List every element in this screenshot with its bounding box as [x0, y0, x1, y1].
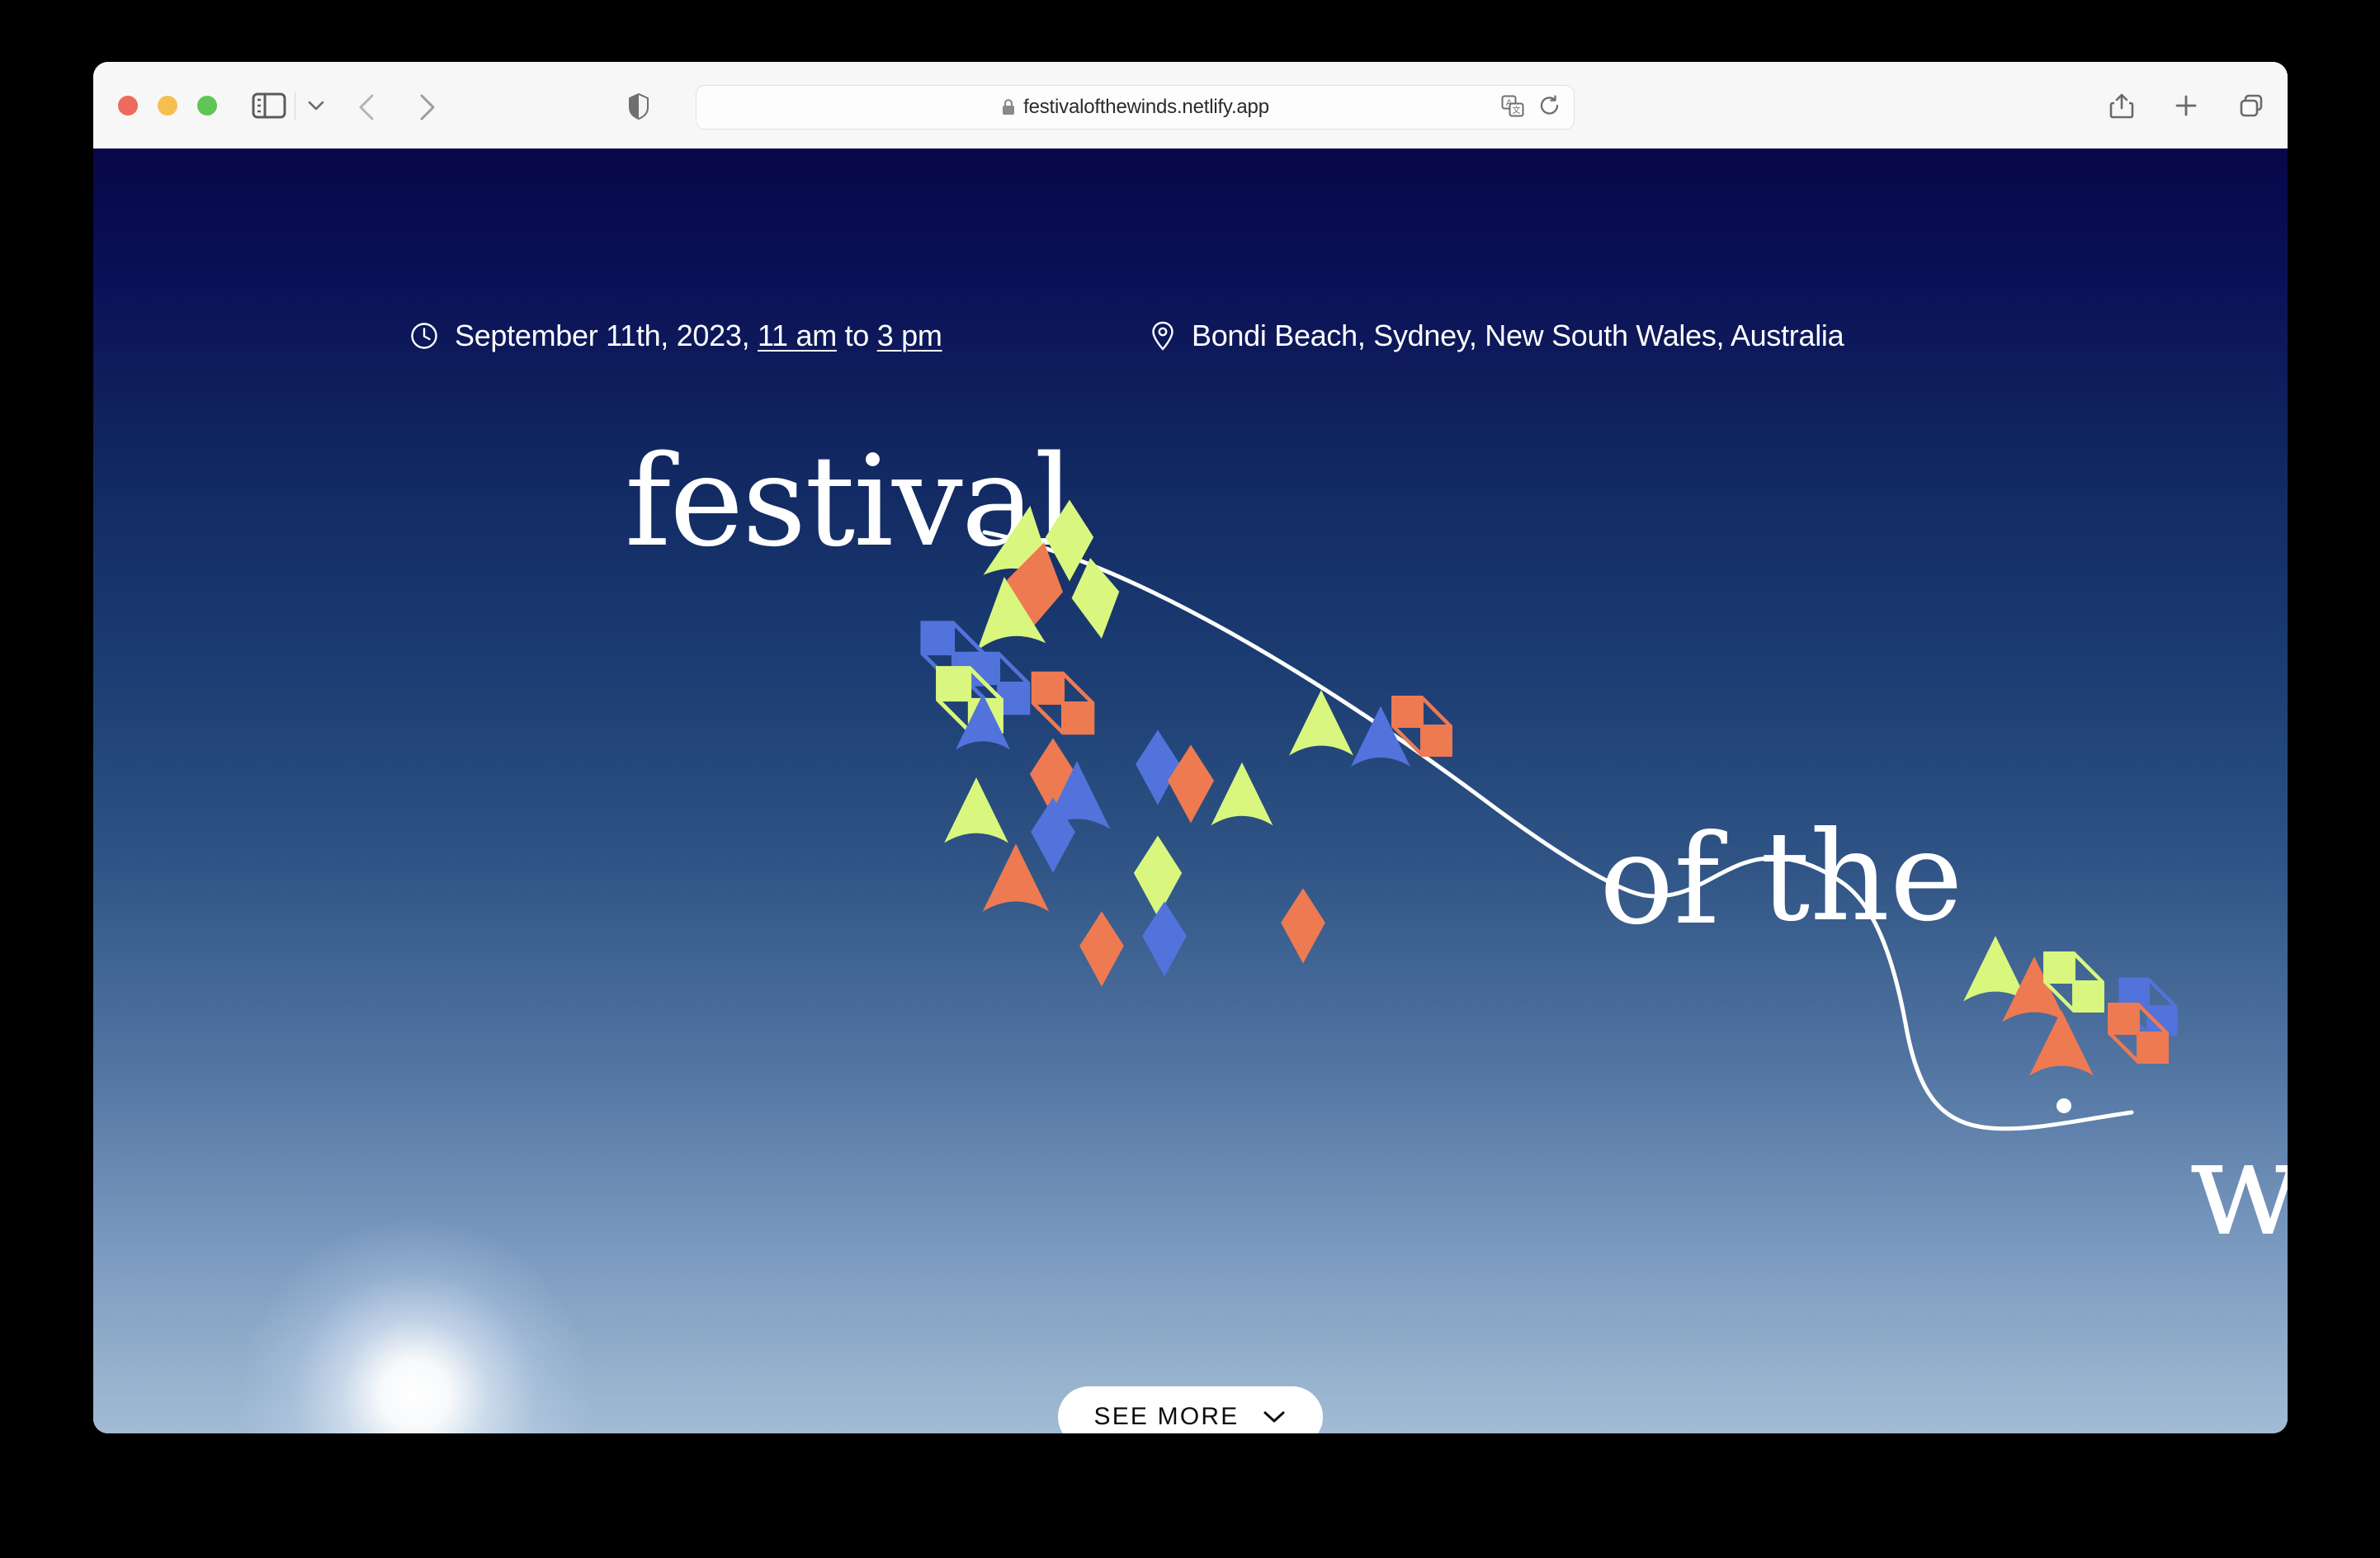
kite-diamond — [1079, 911, 1124, 986]
kite-box — [1393, 697, 1450, 754]
kite-diamond — [1030, 739, 1076, 817]
address-bar-content: festivalofthewinds.netlify.app — [1001, 96, 1269, 119]
see-more-button[interactable]: SEE MORE — [1058, 1386, 1324, 1433]
kite-delta — [1963, 936, 2028, 1001]
address-bar-actions: A 文 — [1501, 95, 1561, 122]
kite-delta — [970, 574, 1046, 651]
kite-box — [938, 668, 1002, 732]
clock-icon — [410, 322, 438, 350]
event-location: Bondi Beach, Sydney, New South Wales, Au… — [1150, 319, 1844, 353]
kite-box — [1033, 673, 1093, 733]
string-anchor-dot — [2057, 1098, 2071, 1113]
kite-diamond — [1066, 555, 1125, 642]
event-time-start: 11 am — [758, 319, 837, 352]
sun-glow — [242, 1221, 588, 1433]
tab-overview-icon[interactable] — [2238, 92, 2264, 123]
event-datetime: September 11th, 2023, 11 am to 3 pm — [410, 319, 942, 353]
event-info-row: September 11th, 2023, 11 am to 3 pm Bond… — [93, 319, 2288, 376]
new-tab-plus-icon[interactable] — [2174, 93, 2198, 122]
kite-diamond — [1168, 745, 1214, 824]
event-time-end: 3 pm — [877, 319, 942, 352]
map-pin-icon — [1150, 321, 1175, 351]
kite-delta — [2002, 956, 2066, 1022]
kite-box — [923, 623, 984, 684]
browser-toolbar: festivalofthewinds.netlify.app A 文 — [93, 62, 2288, 149]
zoom-window-button[interactable] — [197, 96, 217, 116]
event-date: September 11th, 2023, — [455, 319, 749, 352]
kite-diamond — [1142, 901, 1187, 976]
kite-box — [969, 654, 1028, 713]
toolbar-right-actions — [2109, 92, 2264, 124]
kite-diamond — [1281, 888, 1325, 963]
headline-word-of: of — [1599, 819, 1720, 942]
chevron-down-icon — [1262, 1409, 1287, 1425]
kite-diamond — [1134, 836, 1182, 918]
lock-icon — [1001, 98, 1016, 116]
headline-word-the: the — [1760, 815, 1963, 939]
reload-icon[interactable] — [1539, 95, 1561, 122]
close-window-button[interactable] — [118, 96, 138, 116]
kite-delta — [2029, 1010, 2094, 1075]
page-viewport: September 11th, 2023, 11 am to 3 pm Bond… — [93, 149, 2288, 1433]
kite-delta — [1044, 761, 1111, 829]
headline-word-festival: festival — [625, 439, 1073, 564]
screen: festivalofthewinds.netlify.app A 文 — [0, 0, 2380, 1558]
translate-icon[interactable]: A 文 — [1501, 95, 1524, 122]
kite-delta — [944, 777, 1008, 843]
back-button[interactable] — [356, 93, 379, 125]
kite-box — [2121, 980, 2176, 1035]
kite-delta — [956, 694, 1010, 750]
event-location-text: Bondi Beach, Sydney, New South Wales, Au… — [1192, 319, 1844, 353]
kite-delta — [1351, 706, 1410, 767]
sidebar-chevron-down-icon[interactable] — [306, 98, 326, 117]
address-bar[interactable]: festivalofthewinds.netlify.app A 文 — [696, 85, 1575, 130]
share-icon[interactable] — [2109, 92, 2134, 124]
kite-diamond — [1031, 797, 1075, 872]
see-more-label: SEE MORE — [1094, 1403, 1240, 1431]
window-traffic-lights[interactable] — [118, 96, 217, 116]
event-time-join: to — [845, 319, 869, 352]
privacy-shield-icon[interactable] — [628, 93, 649, 124]
sidebar-icon[interactable] — [252, 92, 286, 120]
kite-delta — [1211, 762, 1273, 825]
browser-window: festivalofthewinds.netlify.app A 文 — [93, 62, 2288, 1433]
kite-delta — [983, 843, 1050, 911]
forward-button[interactable] — [415, 93, 438, 125]
kite-box — [2045, 953, 2102, 1010]
toolbar-divider — [295, 92, 295, 120]
minimize-window-button[interactable] — [158, 96, 177, 116]
headline-word-winds: winds — [2189, 1122, 2288, 1254]
svg-text:文: 文 — [1513, 105, 1521, 116]
url-text: festivalofthewinds.netlify.app — [1023, 96, 1269, 119]
kite-box — [2109, 1004, 2166, 1061]
kite-delta — [1289, 690, 1353, 755]
kite-diamond — [1136, 729, 1180, 805]
